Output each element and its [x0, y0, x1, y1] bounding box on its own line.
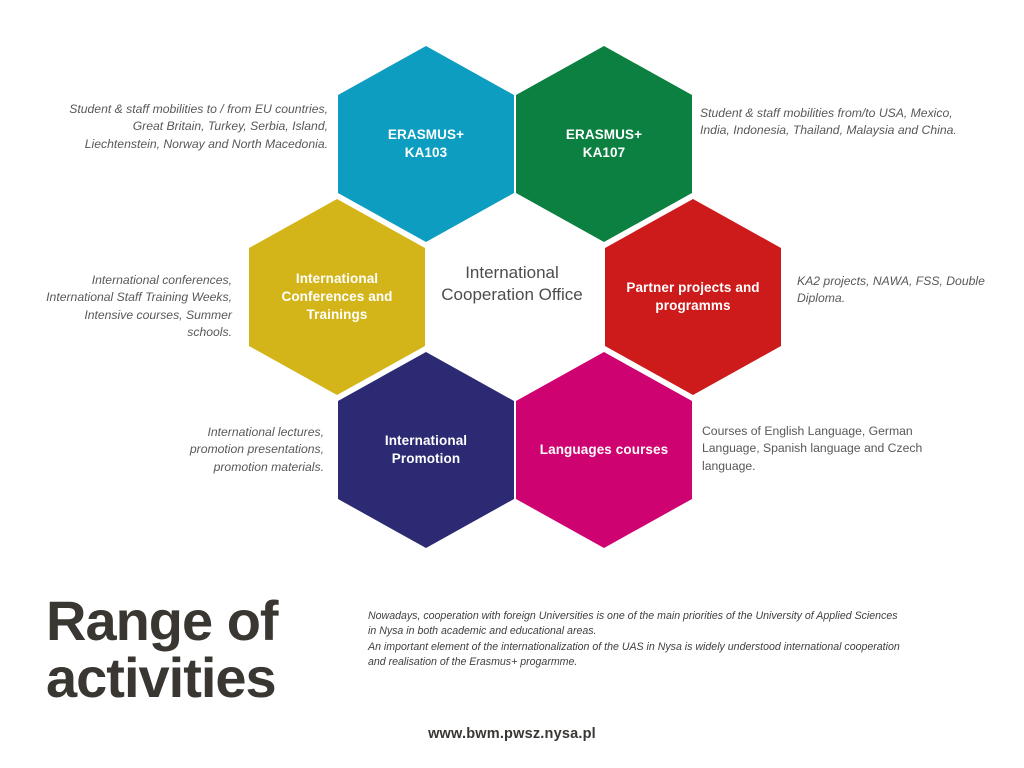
hexagon-partner-projects-and-programms[interactable]: Partner projects and programms — [605, 199, 781, 395]
caption-languages-courses: Courses of English Language, German Lang… — [702, 423, 944, 475]
hexagon-international-promotion[interactable]: International Promotion — [338, 352, 514, 548]
description-paragraph-1: Nowadays, cooperation with foreign Unive… — [368, 609, 908, 640]
hexagon-label: Partner projects and programms — [610, 279, 775, 315]
caption-partner-projects: KA2 projects, NAWA, FSS, Double Diploma. — [797, 273, 987, 308]
honeycomb-diagram: ERASMUS+ KA103 ERASMUS+ KA107 Internatio… — [0, 0, 1024, 570]
hexagon-label: ERASMUS+ KA103 — [372, 126, 480, 162]
footer-website-url[interactable]: www.bwm.pwsz.nysa.pl — [0, 726, 1024, 742]
page-title: Range of activities — [46, 592, 346, 706]
hexagon-erasmus-ka107[interactable]: ERASMUS+ KA107 — [516, 46, 692, 242]
description-paragraph-2: An important element of the internationa… — [368, 640, 908, 671]
hexagon-label: International Conferences and Trainings — [265, 270, 408, 323]
caption-erasmus-ka107: Student & staff mobilities from/to USA, … — [700, 105, 980, 140]
hexagon-label: International Promotion — [369, 432, 483, 468]
caption-international-conferences: International conferences, International… — [38, 272, 232, 341]
center-label-international-cooperation-office: International Cooperation Office — [427, 262, 597, 306]
caption-erasmus-ka103: Student & staff mobilities to / from EU … — [60, 101, 328, 153]
hexagon-international-conferences-and-trainings[interactable]: International Conferences and Trainings — [249, 199, 425, 395]
hexagon-languages-courses[interactable]: Languages courses — [516, 352, 692, 548]
hexagon-erasmus-ka103[interactable]: ERASMUS+ KA103 — [338, 46, 514, 242]
hexagon-label: Languages courses — [524, 441, 685, 459]
caption-international-promotion: International lectures, promotion presen… — [150, 424, 324, 476]
hexagon-label: ERASMUS+ KA107 — [550, 126, 658, 162]
description-text: Nowadays, cooperation with foreign Unive… — [368, 609, 908, 671]
